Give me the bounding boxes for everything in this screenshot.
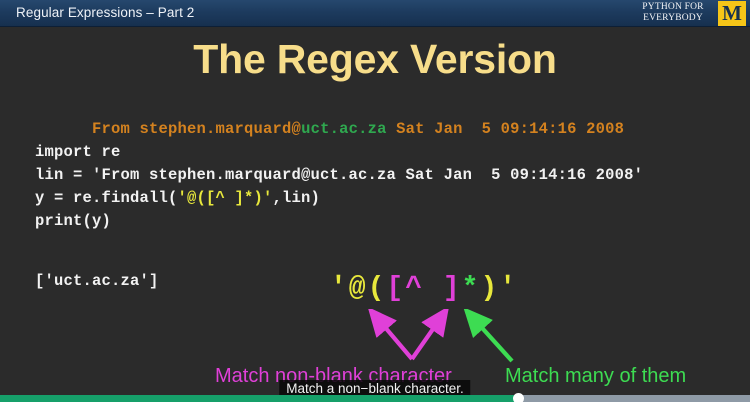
code-line-3-regex: '@([^ ]*)' [178,189,273,207]
video-player-screen: Regular Expressions – Part 2 PYTHON FOR … [0,0,750,402]
code-line-3-suffix: ,lin) [273,189,321,207]
regex-part-star: * [462,273,481,304]
arrow-to-open-bracket [378,319,412,359]
python-code-block: import re lin = 'From stephen.marquard@u… [35,141,643,233]
code-line-4: print(y) [35,212,111,230]
code-line-3-prefix: y = re.findall( [35,189,178,207]
lecture-title: Regular Expressions – Part 2 [16,5,194,20]
regex-part-open: '@( [330,273,386,304]
mail-domain: uct.ac.za [301,120,387,138]
brand-line-1: PYTHON FOR [630,2,716,13]
slide-title-bar: Regular Expressions – Part 2 PYTHON FOR … [0,0,750,27]
code-output: ['uct.ac.za'] [35,272,159,290]
arrow-to-close-bracket [412,319,440,359]
slide-heading: The Regex Version [0,36,750,83]
code-line-1: import re [35,143,121,161]
annotation-arrows [330,309,590,369]
video-progress-fill [0,395,518,402]
brand-line-2: EVERYBODY [630,13,716,24]
code-line-2: lin = 'From stephen.marquard@uct.ac.za S… [35,166,643,184]
video-progress-scrubber[interactable] [513,393,524,402]
mail-suffix: Sat Jan 5 09:14:16 2008 [387,120,625,138]
annotation-label-many: Match many of them [505,365,686,388]
annotated-regex-pattern: '@([^ ]*)' [330,273,518,304]
python-for-everybody-wordmark: PYTHON FOR EVERYBODY [630,2,716,23]
slide-content: The Regex Version From stephen.marquard@… [0,27,750,402]
regex-part-close: )' [480,273,518,304]
michigan-m-logo: M [718,1,746,26]
regex-part-charclass: [^ ] [386,273,461,304]
arrow-to-asterisk [474,319,512,361]
mail-prefix: From stephen.marquard@ [92,120,301,138]
video-progress-bar[interactable] [0,395,750,402]
